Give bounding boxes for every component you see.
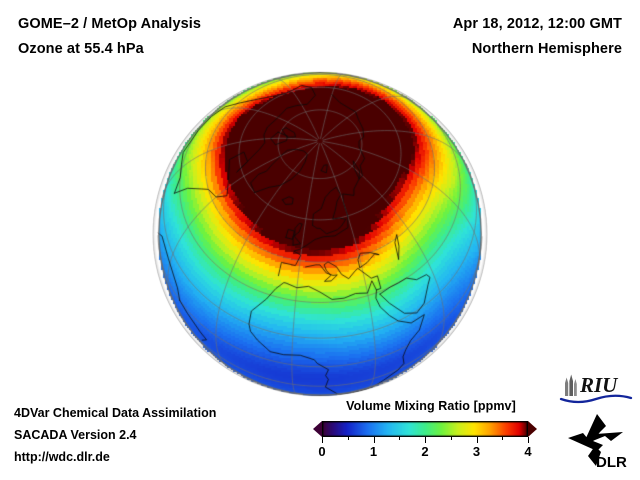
colorbar-major-tick: [528, 437, 529, 443]
footer-line-version: SACADA Version 2.4: [14, 424, 216, 446]
riu-wordmark: RIU: [579, 373, 619, 397]
ozone-globe-map: [153, 72, 487, 396]
colorbar-major-tick: [374, 437, 375, 443]
colorbar-tick-label: 1: [370, 444, 377, 459]
globe-figure: [153, 72, 487, 396]
header-left: GOME–2 / MetOp Analysis Ozone at 55.4 hP…: [18, 12, 201, 62]
colorbar-major-tick: [477, 437, 478, 443]
colorbar-tick-labels: 01234: [322, 444, 528, 462]
colorbar-tick-label: 2: [421, 444, 428, 459]
page-subtitle: Ozone at 55.4 hPa: [18, 37, 201, 62]
colorbar-legend: Volume Mixing Ratio [ppmv] 01234: [306, 398, 556, 462]
colorbar-tick-label: 3: [473, 444, 480, 459]
colorbar-minor-tick: [502, 437, 503, 440]
region-label: Northern Hemisphere: [453, 37, 622, 62]
colorbar-minor-tick: [348, 437, 349, 440]
dlr-logo: DLR: [566, 412, 632, 470]
page-title: GOME–2 / MetOp Analysis: [18, 12, 201, 37]
colorbar-title: Volume Mixing Ratio [ppmv]: [306, 398, 556, 414]
riu-tower-icon: [565, 375, 577, 397]
timestamp-label: Apr 18, 2012, 12:00 GMT: [453, 12, 622, 37]
colorbar-ticks: [322, 437, 528, 443]
colorbar-gradient: [322, 421, 528, 437]
colorbar-tick-label: 0: [318, 444, 325, 459]
colorbar-major-tick: [322, 437, 323, 443]
colorbar-minor-tick: [399, 437, 400, 440]
footer-credits: 4DVar Chemical Data Assimilation SACADA …: [14, 402, 216, 468]
colorbar-row: [306, 419, 556, 439]
riu-logo: RIU: [558, 372, 634, 406]
colorbar-under-arrow: [313, 421, 322, 437]
footer-line-url[interactable]: http://wdc.dlr.de: [14, 446, 216, 468]
colorbar-minor-tick: [451, 437, 452, 440]
footer-line-method: 4DVar Chemical Data Assimilation: [14, 402, 216, 424]
header-right: Apr 18, 2012, 12:00 GMT Northern Hemisph…: [453, 12, 622, 62]
dlr-wordmark: DLR: [596, 454, 627, 470]
colorbar-over-arrow: [528, 421, 537, 437]
colorbar-major-tick: [425, 437, 426, 443]
colorbar-tick-label: 4: [524, 444, 531, 459]
